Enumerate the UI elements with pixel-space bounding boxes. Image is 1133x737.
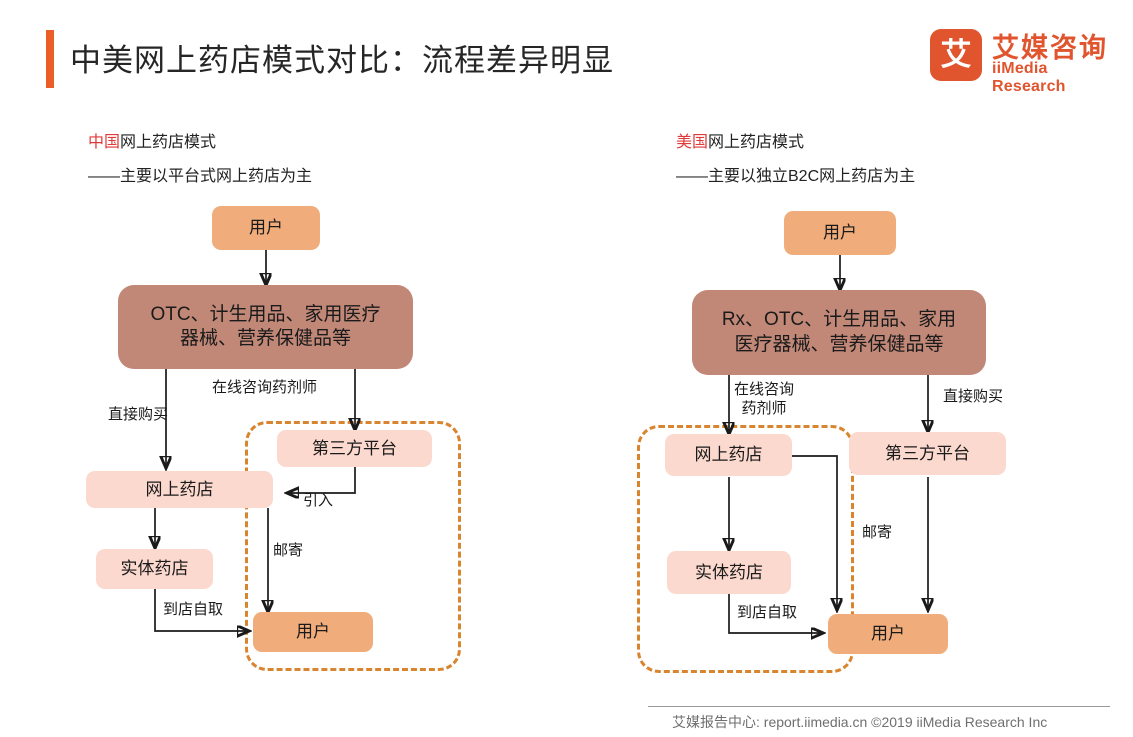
right-physical-pharmacy-label: 实体药店 [695,562,763,584]
left-products-node[interactable]: OTC、计生用品、家用医疗 器械、营养保健品等 [118,285,413,369]
right-user-top-node[interactable]: 用户 [784,211,896,255]
left-user-bottom-node[interactable]: 用户 [253,612,373,652]
left-online-pharmacy-node[interactable]: 网上药店 [86,471,273,508]
left-third-party-node[interactable]: 第三方平台 [277,430,432,467]
left-user-top-node[interactable]: 用户 [212,206,320,250]
right-consult-line1: 在线咨询 [734,381,794,400]
left-physical-pharmacy-label: 实体药店 [121,558,189,580]
right-online-pharmacy-node[interactable]: 网上药店 [665,434,792,476]
right-third-party-node[interactable]: 第三方平台 [849,432,1006,475]
left-user-top-label: 用户 [249,217,283,239]
left-consult-label: 在线咨询药剂师 [212,379,317,398]
right-user-bottom-node[interactable]: 用户 [828,614,948,654]
right-online-pharmacy-label: 网上药店 [695,444,763,466]
right-user-bottom-label: 用户 [871,623,905,645]
left-physical-pharmacy-node[interactable]: 实体药店 [96,549,213,589]
right-consult-label: 在线咨询 药剂师 [734,381,794,419]
left-products-line2: 器械、营养保健品等 [180,327,351,351]
right-products-line1: Rx、OTC、计生用品、家用 [722,308,956,332]
left-direct-buy-label: 直接购买 [108,406,168,425]
right-physical-pharmacy-node[interactable]: 实体药店 [667,551,791,594]
right-products-node[interactable]: Rx、OTC、计生用品、家用 医疗器械、营养保健品等 [692,290,986,375]
left-introduce-label: 引入 [303,492,333,511]
left-third-party-label: 第三方平台 [312,438,397,460]
right-third-party-label: 第三方平台 [885,443,970,465]
right-user-top-label: 用户 [823,222,857,244]
right-consult-line2: 药剂师 [734,400,794,419]
right-mail-label: 邮寄 [862,524,892,543]
left-online-pharmacy-label: 网上药店 [146,479,214,501]
left-user-bottom-label: 用户 [296,621,330,643]
footer-divider [648,706,1110,707]
left-mail-label: 邮寄 [273,542,303,561]
right-products-line2: 医疗器械、营养保健品等 [734,333,943,357]
right-pickup-label: 到店自取 [737,604,797,623]
footer-text: 艾媒报告中心: report.iimedia.cn ©2019 iiMedia … [672,712,1047,732]
left-pickup-label: 到店自取 [163,601,223,620]
left-products-line1: OTC、计生用品、家用医疗 [150,303,380,327]
slide-canvas: 中美网上药店模式对比：流程差异明显 艾 艾媒咨询 iiMedia Researc… [0,0,1133,737]
right-direct-buy-label: 直接购买 [943,388,1003,407]
